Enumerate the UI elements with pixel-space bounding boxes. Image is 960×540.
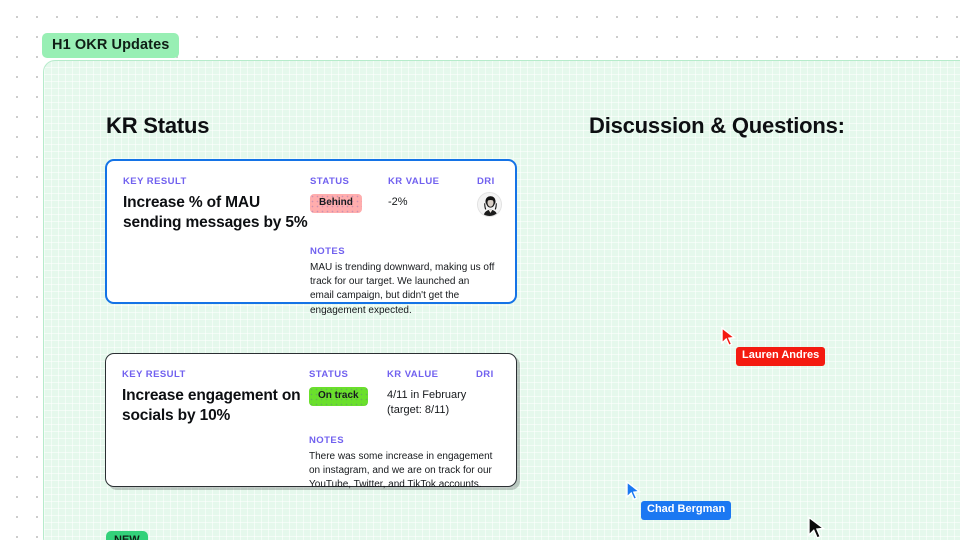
status-label: STATUS (309, 369, 348, 380)
avatar[interactable] (477, 192, 502, 217)
notes-label: NOTES (310, 246, 345, 257)
kr-value: -2% (388, 195, 408, 210)
notes-body: There was some increase in engagement on… (309, 450, 494, 493)
notes-body: MAU is trending downward, making us off … (310, 261, 495, 318)
kr-value-label: KR VALUE (387, 369, 438, 380)
okr-board-panel[interactable]: KR Status Discussion & Questions: KEY RE… (43, 60, 960, 540)
kr-status-heading: KR Status (106, 113, 209, 139)
kr-card[interactable]: KEY RESULT Increase engagement on social… (105, 353, 517, 487)
kr-card-selected[interactable]: KEY RESULT Increase % of MAU sending mes… (105, 159, 517, 304)
kr-title: Increase % of MAU sending messages by 5% (123, 193, 313, 233)
whiteboard-canvas[interactable]: H1 OKR Updates KR Status Discussion & Qu… (0, 0, 960, 540)
arrow-cursor-icon (625, 481, 643, 501)
key-result-label: KEY RESULT (122, 369, 186, 380)
kr-value-label: KR VALUE (388, 176, 439, 187)
notes-label: NOTES (309, 435, 344, 446)
discussion-questions-heading: Discussion & Questions: (589, 113, 845, 139)
status-label: STATUS (310, 176, 349, 187)
dri-label: DRI (477, 176, 495, 187)
bottom-clipped-pill[interactable]: NEW (106, 531, 148, 540)
frame-title-pill[interactable]: H1 OKR Updates (42, 33, 179, 58)
status-badge[interactable]: On track (309, 387, 368, 406)
collaborator-name-label: Lauren Andres (736, 347, 825, 366)
arrow-cursor-icon (720, 327, 738, 347)
key-result-label: KEY RESULT (123, 176, 187, 187)
collaborator-name-label: Chad Bergman (641, 501, 731, 520)
avatar-photo-icon (478, 193, 502, 217)
mouse-pointer-icon (807, 516, 827, 540)
kr-value-line-2: (target: 8/11) (387, 403, 466, 418)
kr-value: 4/11 in February (target: 8/11) (387, 388, 466, 418)
status-badge[interactable]: Behind (310, 194, 362, 213)
kr-title: Increase engagement on socials by 10% (122, 386, 312, 426)
kr-value-line-1: 4/11 in February (387, 388, 466, 403)
dri-label: DRI (476, 369, 494, 380)
